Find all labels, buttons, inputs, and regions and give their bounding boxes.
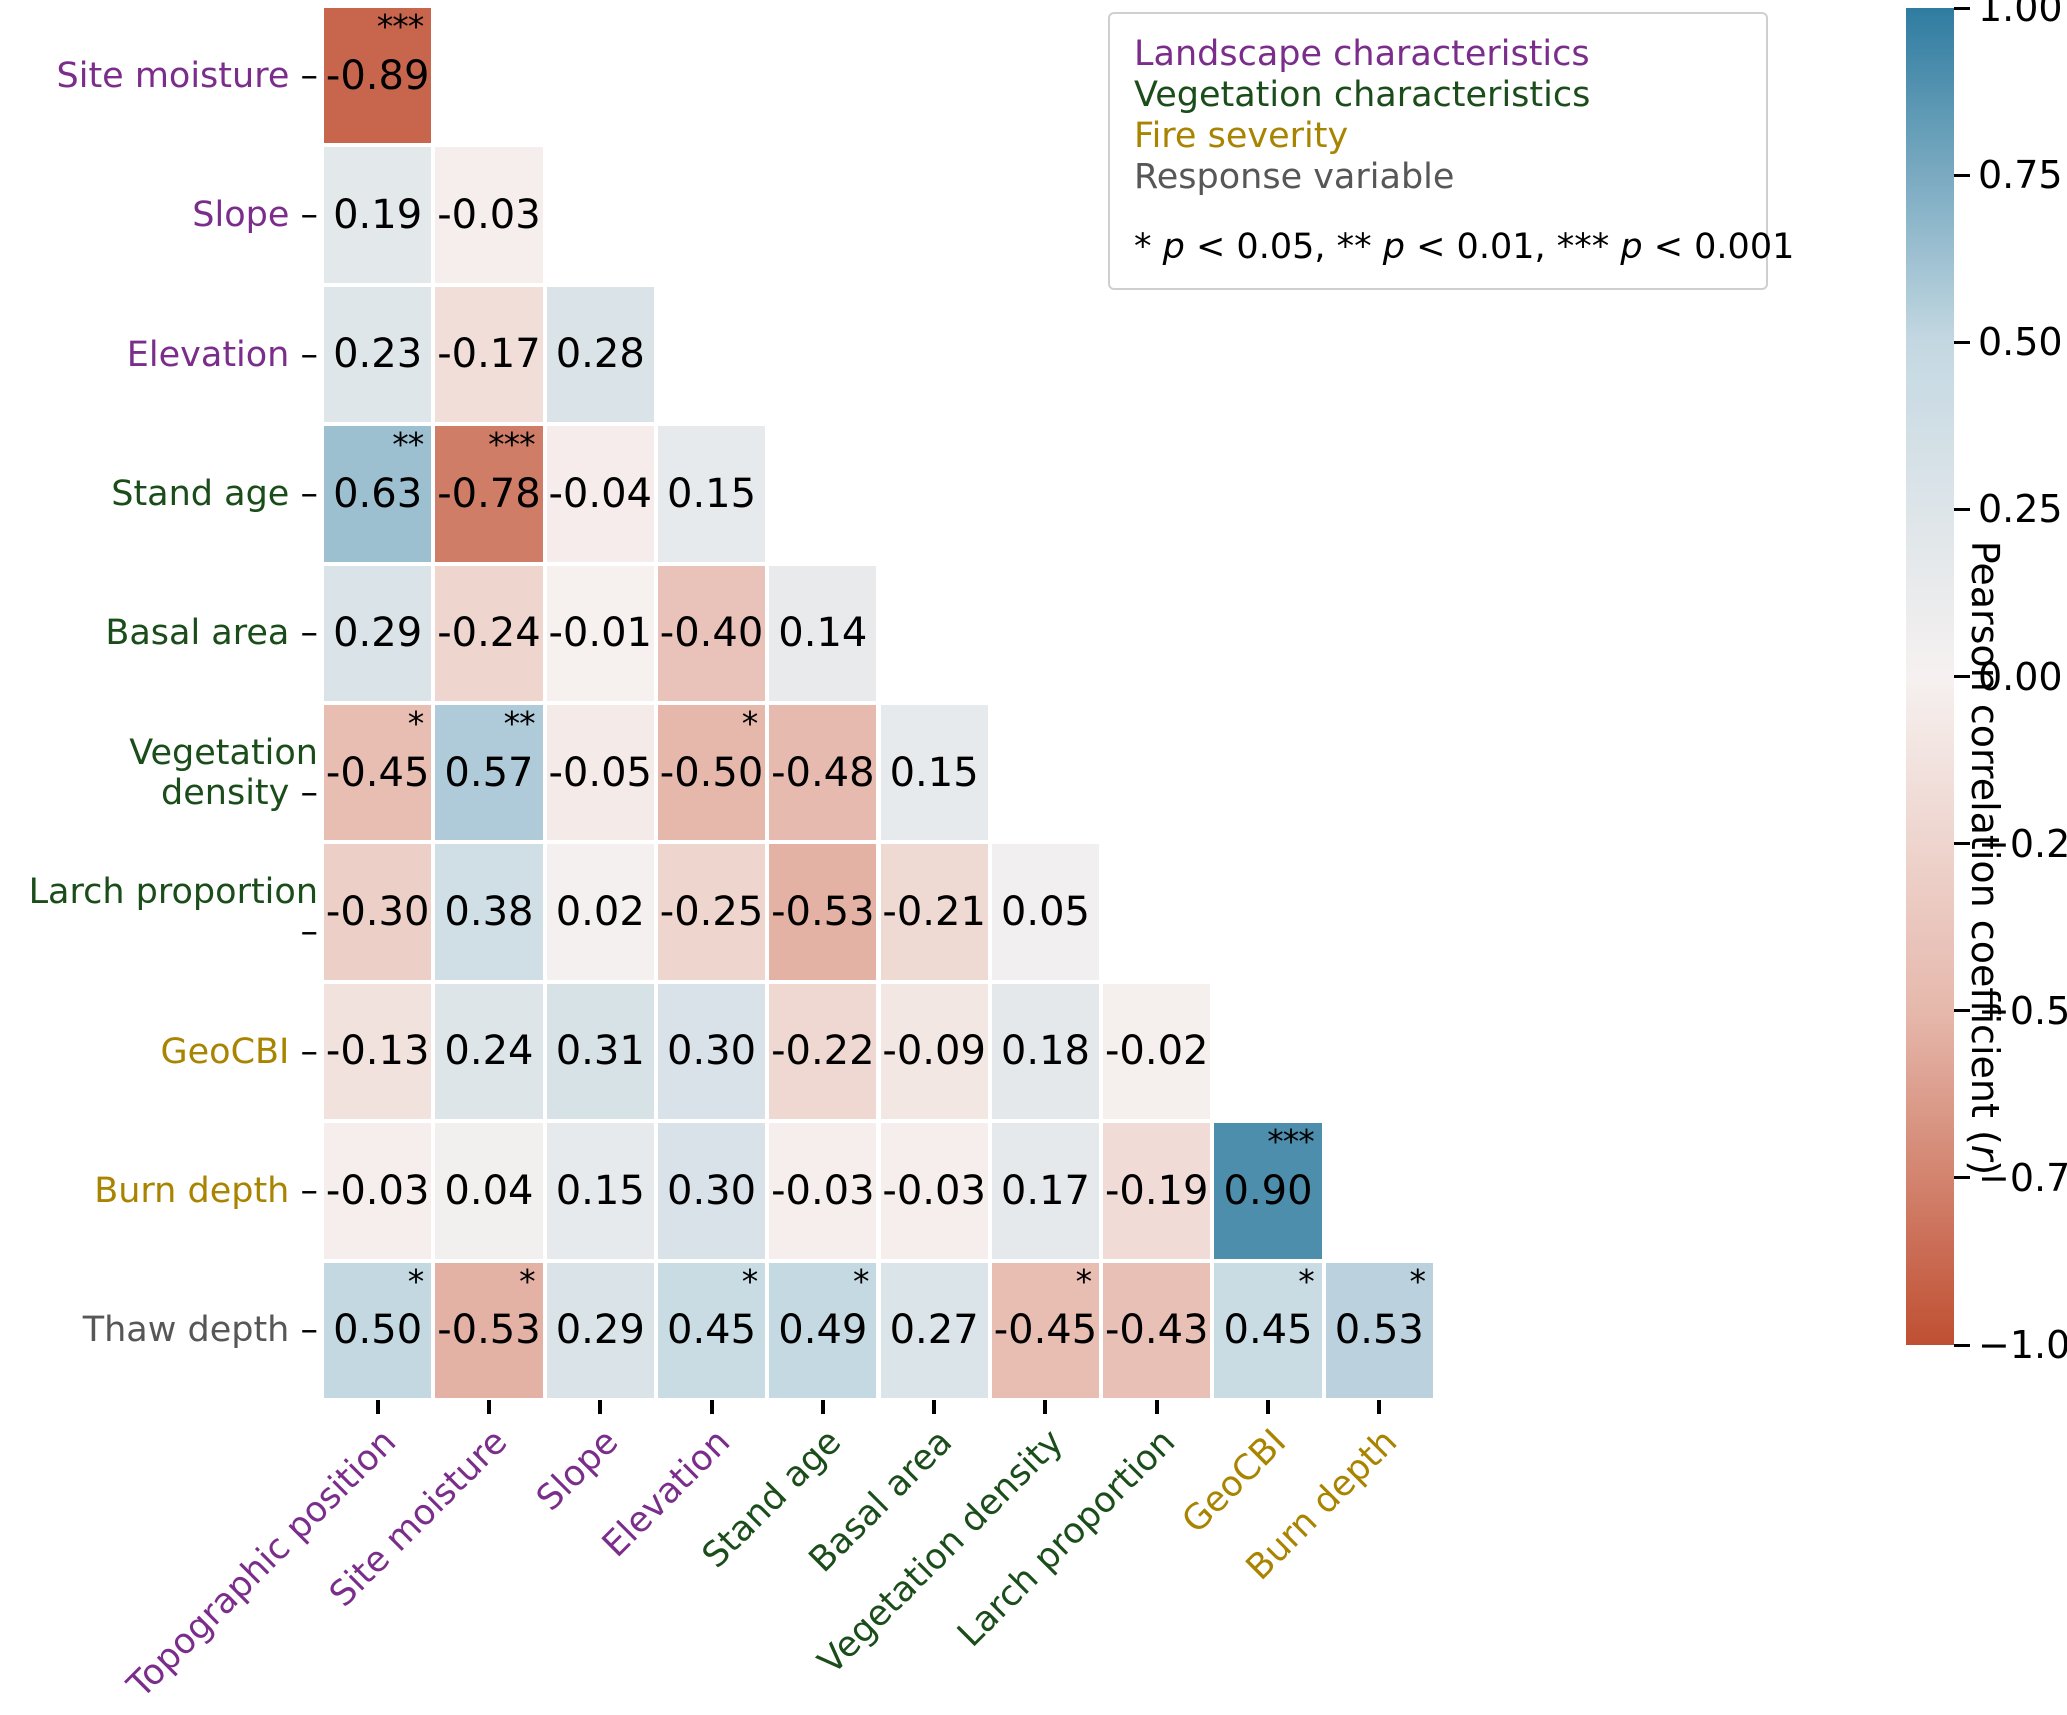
heatmap-cell: -0.78*** xyxy=(435,426,542,561)
heatmap-cell: 0.24 xyxy=(435,984,542,1119)
cell-value: 0.02 xyxy=(547,892,654,932)
y-axis-tick: Vegetation density – xyxy=(0,733,318,813)
heatmap-cell: 0.50* xyxy=(324,1263,431,1398)
heatmap-cell: 0.45* xyxy=(1214,1263,1321,1398)
y-axis-label: GeoCBI xyxy=(161,1032,290,1072)
y-axis-tick-mark: – xyxy=(289,195,318,235)
y-axis-label: Elevation xyxy=(127,335,290,375)
heatmap-cell: 0.28 xyxy=(547,287,654,422)
colorbar-tick-label: 0.75 xyxy=(1978,156,2063,194)
cell-value: 0.04 xyxy=(435,1171,542,1211)
heatmap-cell: -0.03 xyxy=(324,1123,431,1258)
cell-value: -0.40 xyxy=(658,613,765,653)
significance-stars: * xyxy=(1298,1265,1314,1298)
cell-value: 0.31 xyxy=(547,1031,654,1071)
cell-value: -0.78 xyxy=(435,474,542,514)
colorbar-tick-label: 0.25 xyxy=(1978,490,2063,528)
significance-stars: * xyxy=(1409,1265,1425,1298)
heatmap-cell: -0.02 xyxy=(1103,984,1210,1119)
cell-value: 0.30 xyxy=(658,1031,765,1071)
cell-value: 0.14 xyxy=(769,613,876,653)
x-axis-tick-mark xyxy=(598,1400,602,1414)
y-axis-label: Stand age xyxy=(111,474,289,514)
colorbar-tick-label: −1.00 xyxy=(1978,1326,2067,1364)
cell-value: 0.15 xyxy=(881,753,988,793)
heatmap-cell: -0.03 xyxy=(435,147,542,282)
cell-value: -0.03 xyxy=(769,1171,876,1211)
cell-value: 0.50 xyxy=(324,1310,431,1350)
significance-stars: * xyxy=(853,1265,869,1298)
cell-value: -0.48 xyxy=(769,753,876,793)
heatmap-cell: -0.22 xyxy=(769,984,876,1119)
heatmap-cell: -0.13 xyxy=(324,984,431,1119)
heatmap-cell: 0.53* xyxy=(1326,1263,1433,1398)
cell-value: -0.03 xyxy=(881,1171,988,1211)
significance-stars: * xyxy=(408,1265,424,1298)
y-axis-tick: Burn depth – xyxy=(0,1171,318,1211)
heatmap-cell: -0.19 xyxy=(1103,1123,1210,1258)
heatmap-cell: 0.18 xyxy=(992,984,1099,1119)
y-axis-tick-mark: – xyxy=(289,474,318,514)
cell-value: 0.45 xyxy=(658,1310,765,1350)
heatmap-cell: -0.24 xyxy=(435,566,542,701)
x-axis-tick-mark xyxy=(1266,1400,1270,1414)
cell-value: 0.29 xyxy=(324,613,431,653)
heatmap-cell: -0.89*** xyxy=(324,8,431,143)
y-axis-tick-mark: – xyxy=(289,613,318,653)
x-axis-tick-mark xyxy=(1155,1400,1159,1414)
cell-value: 0.15 xyxy=(658,474,765,514)
cell-value: -0.13 xyxy=(324,1031,431,1071)
heatmap-cell: 0.15 xyxy=(547,1123,654,1258)
cell-value: -0.25 xyxy=(658,892,765,932)
cell-value: 0.29 xyxy=(547,1310,654,1350)
colorbar-title: Pearson correlation coefficient (r) xyxy=(1966,540,2004,1174)
cell-value: -0.43 xyxy=(1103,1310,1210,1350)
heatmap-cell: 0.04 xyxy=(435,1123,542,1258)
cell-value: 0.53 xyxy=(1326,1310,1433,1350)
heatmap-cell: -0.01 xyxy=(547,566,654,701)
significance-stars: *** xyxy=(488,428,535,461)
heatmap-cell: -0.50* xyxy=(658,705,765,840)
significance-stars: * xyxy=(408,707,424,740)
x-axis-tick-mark xyxy=(710,1400,714,1414)
cell-value: 0.63 xyxy=(324,474,431,514)
heatmap-cell: 0.90*** xyxy=(1214,1123,1321,1258)
cell-value: -0.22 xyxy=(769,1031,876,1071)
x-axis-tick-mark xyxy=(1043,1400,1047,1414)
cell-value: 0.15 xyxy=(547,1171,654,1211)
cell-value: 0.28 xyxy=(547,334,654,374)
colorbar-tick-mark xyxy=(1954,1344,1970,1347)
significance-stars: ** xyxy=(392,428,423,461)
legend-entry-landscape: Landscape characteristics xyxy=(1134,34,1742,75)
legend-entry-vegetation: Vegetation characteristics xyxy=(1134,75,1742,116)
legend-entry-fire: Fire severity xyxy=(1134,116,1742,157)
correlation-heatmap-figure: Site moisture – Slope – Elevation – Stan… xyxy=(0,0,2067,1715)
significance-stars: *** xyxy=(377,10,424,43)
y-axis-tick-mark: – xyxy=(289,773,318,813)
heatmap-cell: 0.31 xyxy=(547,984,654,1119)
heatmap-cell: -0.45* xyxy=(992,1263,1099,1398)
cell-value: -0.04 xyxy=(547,474,654,514)
heatmap-cell: -0.43 xyxy=(1103,1263,1210,1398)
heatmap-cell: 0.15 xyxy=(658,426,765,561)
significance-stars: * xyxy=(742,1265,758,1298)
y-axis-label: Slope xyxy=(192,195,289,235)
y-axis-tick-mark: – xyxy=(289,1171,318,1211)
heatmap-cell: 0.19 xyxy=(324,147,431,282)
colorbar-gradient xyxy=(1906,8,1954,1345)
cell-value: -0.45 xyxy=(324,753,431,793)
colorbar-title-text: Pearson correlation coefficient ( xyxy=(1963,540,2007,1144)
heatmap-cell: 0.49* xyxy=(769,1263,876,1398)
heatmap-cell: -0.03 xyxy=(769,1123,876,1258)
y-axis-tick: Basal area – xyxy=(0,613,318,653)
heatmap-cell: -0.53 xyxy=(769,844,876,979)
heatmap-cell: 0.30 xyxy=(658,1123,765,1258)
colorbar-tick-mark xyxy=(1954,7,1970,10)
cell-value: -0.30 xyxy=(324,892,431,932)
legend-spacer xyxy=(1134,198,1742,228)
x-axis-tick-mark xyxy=(821,1400,825,1414)
colorbar-tick-mark xyxy=(1954,1176,1970,1179)
y-axis-label: Basal area xyxy=(105,613,289,653)
y-axis-tick-mark: – xyxy=(289,335,318,375)
cell-value: 0.45 xyxy=(1214,1310,1321,1350)
y-axis-tick-mark: – xyxy=(289,1310,318,1350)
cell-value: -0.01 xyxy=(547,613,654,653)
cell-value: 0.05 xyxy=(992,892,1099,932)
y-axis-tick: GeoCBI – xyxy=(0,1032,318,1072)
y-axis-tick-mark: – xyxy=(301,912,319,952)
x-axis-tick-mark xyxy=(376,1400,380,1414)
y-axis-labels: Site moisture – Slope – Elevation – Stan… xyxy=(0,6,318,1400)
cell-value: -0.21 xyxy=(881,892,988,932)
cell-value: 0.24 xyxy=(435,1031,542,1071)
x-axis-label: Slope xyxy=(532,1424,625,1517)
cell-value: 0.90 xyxy=(1214,1171,1321,1211)
cell-value: -0.24 xyxy=(435,613,542,653)
heatmap-cell: 0.23 xyxy=(324,287,431,422)
heatmap-cell: 0.38 xyxy=(435,844,542,979)
y-axis-tick: Stand age – xyxy=(0,474,318,514)
cell-value: 0.19 xyxy=(324,195,431,235)
y-axis-tick: Slope – xyxy=(0,195,318,235)
heatmap-cell: -0.30 xyxy=(324,844,431,979)
heatmap-cell: -0.04 xyxy=(547,426,654,561)
heatmap-cell: 0.29 xyxy=(547,1263,654,1398)
heatmap-cell: -0.40 xyxy=(658,566,765,701)
colorbar-tick-label: 1.00 xyxy=(1978,0,2063,27)
heatmap-cell: -0.48 xyxy=(769,705,876,840)
x-axis-tick-mark xyxy=(932,1400,936,1414)
y-axis-tick-mark: – xyxy=(289,56,318,96)
heatmap-cell: 0.57** xyxy=(435,705,542,840)
cell-value: 0.27 xyxy=(881,1310,988,1350)
cell-value: -0.53 xyxy=(435,1310,542,1350)
y-axis-label: Larch proportion xyxy=(29,872,318,912)
heatmap-cell: 0.27 xyxy=(881,1263,988,1398)
cell-value: -0.50 xyxy=(658,753,765,793)
heatmap-cell: -0.09 xyxy=(881,984,988,1119)
heatmap-cell: -0.53* xyxy=(435,1263,542,1398)
heatmap-cell: 0.05 xyxy=(992,844,1099,979)
significance-stars: * xyxy=(519,1265,535,1298)
cell-value: -0.05 xyxy=(547,753,654,793)
x-axis-label: Larch proportion xyxy=(952,1424,1181,1653)
heatmap-cell: 0.02 xyxy=(547,844,654,979)
heatmap-cell: 0.45* xyxy=(658,1263,765,1398)
significance-stars: ** xyxy=(504,707,535,740)
heatmap-cell: -0.17 xyxy=(435,287,542,422)
colorbar-tick-mark xyxy=(1954,341,1970,344)
significance-stars: *** xyxy=(1267,1125,1314,1158)
colorbar-title-suffix: ) xyxy=(1963,1160,2007,1175)
cell-value: 0.57 xyxy=(435,753,542,793)
heatmap-cell: -0.25 xyxy=(658,844,765,979)
cell-value: 0.17 xyxy=(992,1171,1099,1211)
legend-entry-response: Response variable xyxy=(1134,157,1742,198)
y-axis-tick: Larch proportion – xyxy=(0,872,318,952)
y-axis-tick: Elevation – xyxy=(0,335,318,375)
cell-value: -0.89 xyxy=(324,56,431,96)
cell-value: -0.45 xyxy=(992,1310,1099,1350)
cell-value: 0.49 xyxy=(769,1310,876,1350)
colorbar-tick-mark xyxy=(1954,508,1970,511)
heatmap-cell: -0.05 xyxy=(547,705,654,840)
x-axis-labels: Topographic positionSite moistureSlopeEl… xyxy=(322,1400,1482,1715)
y-axis-label: Site moisture xyxy=(57,56,290,96)
colorbar: 1.000.750.500.250.00−0.25−0.50−0.75−1.00 xyxy=(1906,8,1954,1345)
y-axis-label: Thaw depth xyxy=(83,1310,290,1350)
cell-value: 0.23 xyxy=(324,334,431,374)
cell-value: -0.03 xyxy=(435,195,542,235)
significance-note: * p < 0.05, ** p < 0.01, *** p < 0.001 xyxy=(1134,228,1742,267)
heatmap-cell: 0.15 xyxy=(881,705,988,840)
heatmap-cell: -0.45* xyxy=(324,705,431,840)
x-axis-tick-mark xyxy=(487,1400,491,1414)
colorbar-tick-label: 0.50 xyxy=(1978,323,2063,361)
cell-value: 0.18 xyxy=(992,1031,1099,1071)
colorbar-title-symbol: r xyxy=(1963,1144,2007,1160)
cell-value: 0.38 xyxy=(435,892,542,932)
significance-stars: * xyxy=(742,707,758,740)
y-axis-tick-mark: – xyxy=(289,1032,318,1072)
cell-value: 0.30 xyxy=(658,1171,765,1211)
significance-stars: * xyxy=(1076,1265,1092,1298)
y-axis-tick: Thaw depth – xyxy=(0,1310,318,1350)
heatmap-cell: 0.63** xyxy=(324,426,431,561)
heatmap-cell: -0.21 xyxy=(881,844,988,979)
cell-value: -0.03 xyxy=(324,1171,431,1211)
heatmap-cell: 0.17 xyxy=(992,1123,1099,1258)
cell-value: -0.09 xyxy=(881,1031,988,1071)
x-axis-tick-mark xyxy=(1377,1400,1381,1414)
cell-value: -0.02 xyxy=(1103,1031,1210,1071)
legend-box: Landscape characteristics Vegetation cha… xyxy=(1108,12,1768,290)
heatmap-cell: 0.30 xyxy=(658,984,765,1119)
cell-value: -0.17 xyxy=(435,334,542,374)
heatmap-cell: -0.03 xyxy=(881,1123,988,1258)
colorbar-tick-mark xyxy=(1954,174,1970,177)
heatmap-cell: 0.29 xyxy=(324,566,431,701)
y-axis-tick: Site moisture – xyxy=(0,56,318,96)
cell-value: -0.19 xyxy=(1103,1171,1210,1211)
heatmap-cell: 0.14 xyxy=(769,566,876,701)
y-axis-label: Burn depth xyxy=(94,1171,289,1211)
cell-value: -0.53 xyxy=(769,892,876,932)
